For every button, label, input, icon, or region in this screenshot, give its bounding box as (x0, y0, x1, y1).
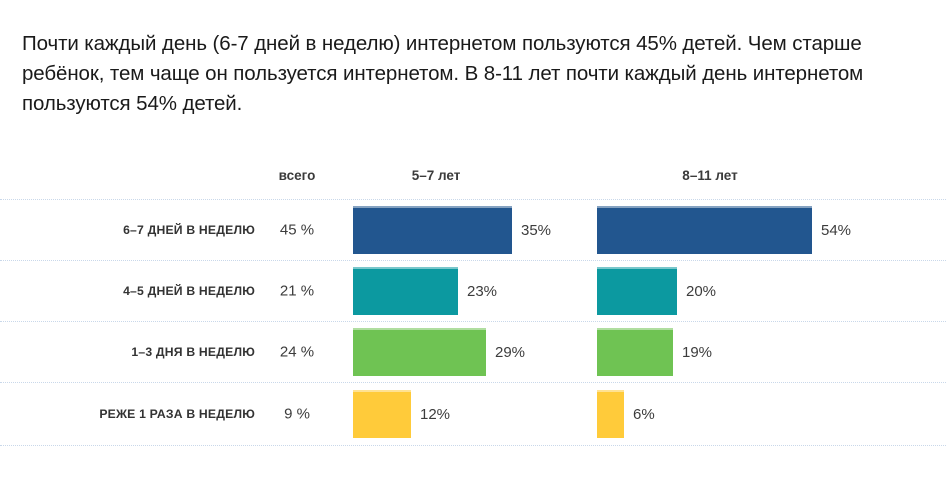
row-label: 1–3 ДНЯ В НЕДЕЛЮ (131, 345, 255, 359)
bar (353, 328, 486, 376)
bar-value-label: 20% (686, 283, 716, 300)
bar-chart: всего 5–7 лет 8–11 лет 6–7 ДНЕЙ В НЕДЕЛЮ… (0, 160, 946, 460)
row-total-value: 24 % (280, 344, 314, 361)
bar-value-label: 35% (521, 222, 551, 239)
bar-group-age-8-11: 6% (597, 390, 655, 438)
bar-group-age-8-11: 19% (597, 328, 712, 376)
row-total-value: 9 % (284, 406, 310, 423)
bar-group-age-5-7: 29% (353, 328, 525, 376)
bar (597, 390, 624, 438)
column-header-age-5-7: 5–7 лет (412, 168, 461, 183)
chart-rows: 6–7 ДНЕЙ В НЕДЕЛЮ 45 % 35% 54% 4–5 ДНЕЙ … (0, 199, 946, 446)
bar-group-age-8-11: 54% (597, 206, 851, 254)
row-total-value: 21 % (280, 283, 314, 300)
bar (353, 206, 512, 254)
bar (353, 390, 411, 438)
bar (597, 328, 673, 376)
chart-row: 6–7 ДНЕЙ В НЕДЕЛЮ 45 % 35% 54% (0, 199, 946, 260)
bar-group-age-5-7: 35% (353, 206, 551, 254)
bar-value-label: 54% (821, 222, 851, 239)
row-label: 4–5 ДНЕЙ В НЕДЕЛЮ (123, 284, 255, 298)
bar-value-label: 19% (682, 344, 712, 361)
bar-group-age-5-7: 23% (353, 267, 497, 315)
bar-value-label: 23% (467, 283, 497, 300)
chart-row: 1–3 ДНЯ В НЕДЕЛЮ 24 % 29% 19% (0, 321, 946, 382)
bar (597, 267, 677, 315)
bar-group-age-5-7: 12% (353, 390, 450, 438)
bar-group-age-8-11: 20% (597, 267, 716, 315)
bar-value-label: 6% (633, 406, 655, 423)
bar (353, 267, 458, 315)
column-header-total: всего (279, 168, 316, 183)
row-label: РЕЖЕ 1 РАЗА В НЕДЕЛЮ (99, 407, 255, 421)
bar (597, 206, 812, 254)
row-label: 6–7 ДНЕЙ В НЕДЕЛЮ (123, 223, 255, 237)
row-total-value: 45 % (280, 222, 314, 239)
bar-value-label: 12% (420, 406, 450, 423)
chart-row: РЕЖЕ 1 РАЗА В НЕДЕЛЮ 9 % 12% 6% (0, 382, 946, 446)
intro-paragraph: Почти каждый день (6-7 дней в неделю) ин… (22, 29, 922, 119)
column-header-age-8-11: 8–11 лет (682, 168, 737, 183)
chart-column-headers: всего 5–7 лет 8–11 лет (0, 160, 946, 199)
bar-value-label: 29% (495, 344, 525, 361)
chart-row: 4–5 ДНЕЙ В НЕДЕЛЮ 21 % 23% 20% (0, 260, 946, 321)
